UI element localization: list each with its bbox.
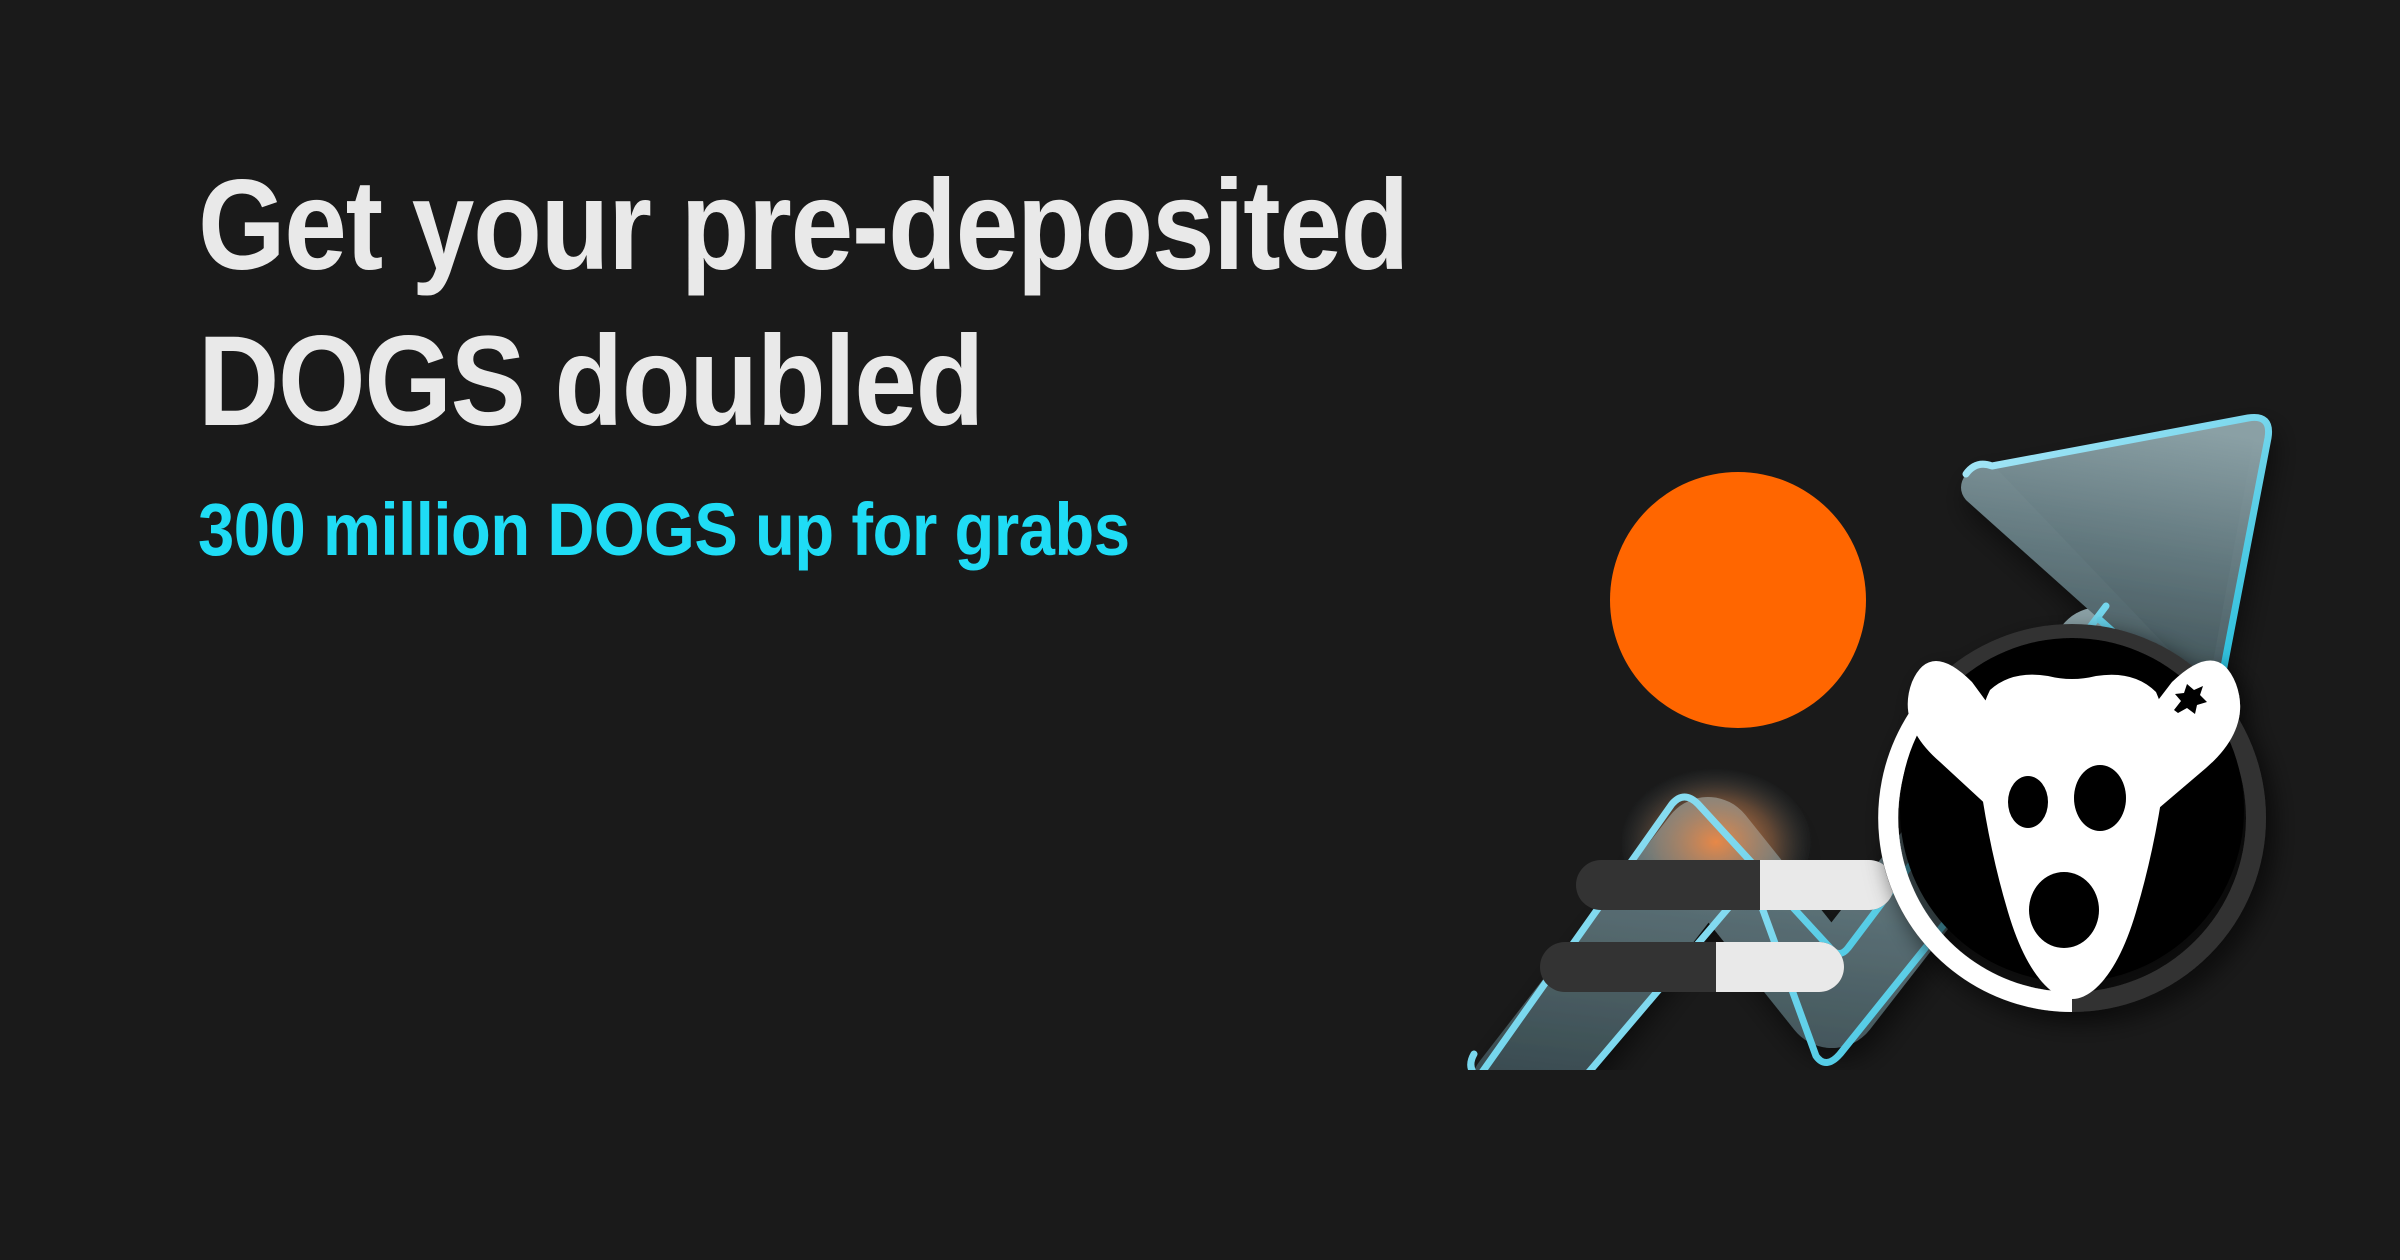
page-title: Get your pre-deposited DOGS doubled bbox=[198, 148, 1298, 460]
dogs-coin bbox=[1888, 634, 2256, 1002]
illustration bbox=[1400, 390, 2340, 1070]
promo-banner: Get your pre-deposited DOGS doubled 300 … bbox=[0, 0, 2400, 1260]
progress-bar-lower bbox=[1540, 942, 1844, 992]
dog-eye-left bbox=[2008, 776, 2048, 828]
progress-bar-upper bbox=[1576, 860, 1894, 910]
subheadline: 300 million DOGS up for grabs bbox=[198, 486, 1298, 575]
dog-snout bbox=[2029, 872, 2099, 948]
headline-line-1: Get your pre-deposited bbox=[198, 148, 1298, 304]
orange-circle bbox=[1610, 472, 1866, 728]
copy-block: Get your pre-deposited DOGS doubled 300 … bbox=[198, 148, 1448, 575]
headline-line-2: DOGS doubled bbox=[198, 304, 1298, 460]
dog-eye-right bbox=[2074, 765, 2126, 831]
